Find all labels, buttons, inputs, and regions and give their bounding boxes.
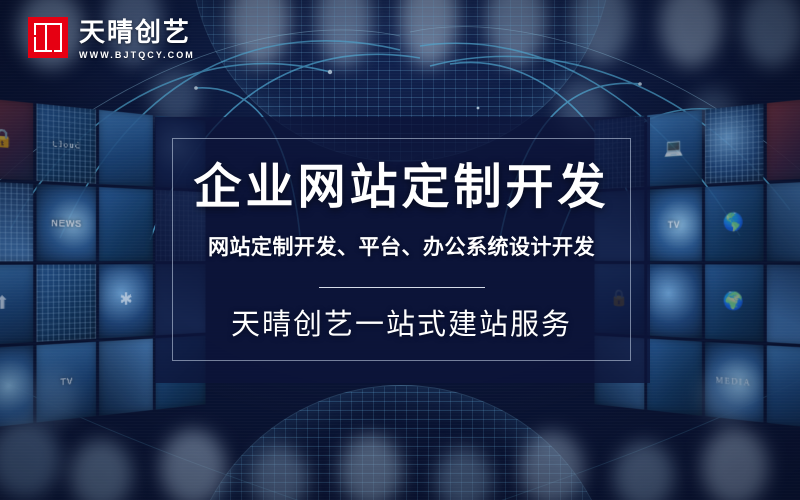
company-name: 天晴创艺: [79, 18, 195, 46]
brand-logo[interactable]: 天晴创艺 WWW.BJTQCY.COM: [28, 17, 195, 61]
page-title: 企业网站定制开发: [193, 161, 609, 215]
logo-mark-bar-cut: [52, 31, 54, 52]
logo-mark-notch: [34, 35, 42, 37]
headline-panel-content: 企业网站定制开发 网站定制开发、平台、办公系统设计开发 天晴创艺一站式建站服务: [173, 139, 630, 360]
company-url: WWW.BJTQCY.COM: [79, 49, 195, 61]
headline-panel-border: 企业网站定制开发 网站定制开发、平台、办公系统设计开发 天晴创艺一站式建站服务: [172, 138, 631, 361]
logo-mark-inner-square: [34, 23, 62, 52]
logo-mark-bar: [45, 23, 47, 52]
banner-image: 🔒 Cloud NEWS ⬆ ✱ TV 💻: [0, 0, 800, 500]
tianqing-logo-mark-icon: [28, 17, 68, 58]
logo-text-block: 天晴创艺 WWW.BJTQCY.COM: [79, 17, 195, 61]
divider: [319, 287, 485, 288]
headline-panel: 企业网站定制开发 网站定制开发、平台、办公系统设计开发 天晴创艺一站式建站服务: [155, 117, 650, 383]
page-tagline: 天晴创艺一站式建站服务: [231, 308, 572, 342]
page-subtitle: 网站定制开发、平台、办公系统设计开发: [208, 235, 595, 261]
